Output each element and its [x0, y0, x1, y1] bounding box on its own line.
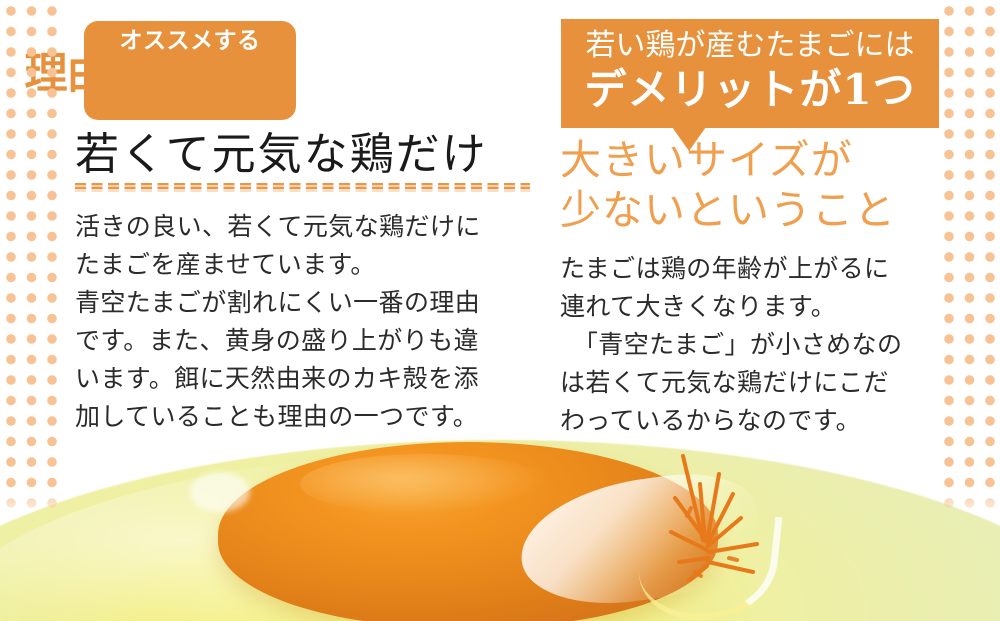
left-column: 若くて元気な鶏だけ 活きの良い、若くて元気な鶏だけに たまごを産ませています。 …: [75, 132, 545, 436]
right-body-line: は若くて元気な鶏だけにこだ: [560, 364, 960, 402]
banner-line-1: 若い鶏が産むたまごには: [561, 31, 939, 61]
reason-badge: オススメする: [84, 21, 296, 120]
right-body-line: 「青空たまご」が小さめなの: [560, 326, 960, 364]
left-body-line: たまごを産ませています。: [75, 246, 545, 284]
brush-underline-decoration: [75, 183, 530, 192]
left-body-line: 加していることも理由の一つです。: [75, 398, 545, 436]
left-body-line: います。餌に天然由来のカキ殻を添: [75, 360, 545, 398]
right-body-text: たまごは鶏の年齢が上がるに 連れて大きくなります。 「青空たまご」が小さめなの …: [560, 250, 960, 440]
right-body-line: 連れて大きくなります。: [560, 288, 960, 326]
dot-pattern-left: [0, 0, 62, 621]
yolk-highlight: [300, 454, 550, 514]
left-body-line: です。また、黄身の盛り上がりも違: [75, 322, 545, 360]
sparkle-icon: [645, 440, 825, 590]
left-headline: 若くて元気な鶏だけ: [75, 132, 545, 178]
right-body-line: わっているからなのです。: [560, 402, 960, 440]
banner-pointer-triangle: [672, 127, 706, 151]
badge-top-label: オススメする: [87, 24, 293, 56]
left-body-line: 活きの良い、若くて元気な鶏だけに: [75, 208, 545, 246]
poster-root: オススメする 理由 その 3 若い鶏が産むたまごには デメリットが1つ 若くて元…: [0, 0, 1000, 621]
right-headline-line: 少ないということ: [560, 185, 960, 235]
egg-photo: [0, 420, 1000, 621]
banner-line-2: デメリットが1つ: [561, 69, 939, 111]
left-body-line: 青空たまごが割れにくい一番の理由: [75, 284, 545, 322]
demerit-banner: 若い鶏が産むたまごには デメリットが1つ: [561, 19, 939, 128]
right-body-line: たまごは鶏の年齢が上がるに: [560, 250, 960, 288]
right-headline: 大きいサイズが 少ないということ: [560, 135, 960, 235]
left-body-text: 活きの良い、若くて元気な鶏だけに たまごを産ませています。 青空たまごが割れにく…: [75, 208, 545, 436]
right-column: 大きいサイズが 少ないということ たまごは鶏の年齢が上がるに 連れて大きくなりま…: [560, 135, 960, 440]
yolk-left-notch: [190, 472, 250, 512]
right-headline-line: 大きいサイズが: [560, 135, 960, 185]
